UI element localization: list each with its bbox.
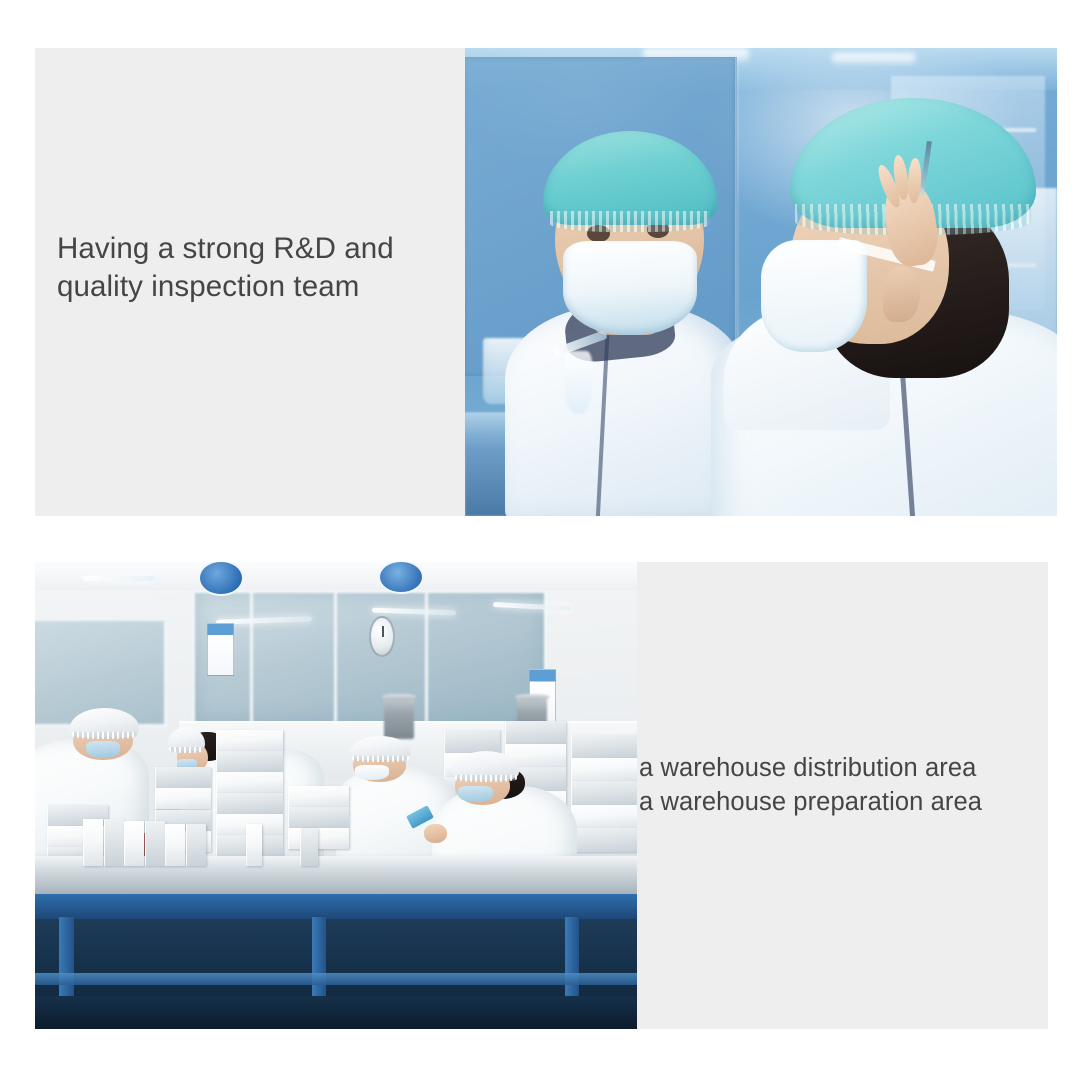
page-canvas: Having a strong R&D and quality inspecti… (0, 0, 1080, 1080)
wall-clock-icon (369, 616, 395, 657)
hairnet-cap (543, 131, 717, 225)
flask-icon (565, 351, 592, 414)
section-rd-quality: Having a strong R&D and quality inspecti… (35, 48, 1057, 516)
ear (883, 266, 919, 322)
lab-technician-right (737, 85, 1057, 516)
hand (424, 824, 447, 843)
caption-warehouse: a warehouse distribution area a warehous… (639, 752, 1059, 820)
ceiling-light-icon (832, 53, 915, 65)
floor (35, 996, 637, 1029)
cleanroom-window (192, 590, 547, 727)
steel-pot-icon (384, 697, 414, 739)
section-warehouse: a warehouse distribution area a warehous… (35, 562, 1048, 1029)
face-mask (563, 241, 697, 335)
table-rail (35, 973, 637, 985)
warehouse-packing-photo (35, 562, 637, 1029)
wall-notice-poster (207, 623, 234, 676)
blue-sign-icon (198, 562, 244, 596)
lab-quality-inspection-photo (465, 48, 1057, 516)
table-blue-frame (35, 894, 637, 922)
face-mask (86, 741, 120, 758)
ceiling-light-icon (83, 576, 155, 581)
caption-rd-quality: Having a strong R&D and quality inspecti… (57, 230, 457, 307)
face-mask (458, 786, 493, 802)
face-mask (355, 765, 389, 780)
face-mask (761, 240, 867, 352)
